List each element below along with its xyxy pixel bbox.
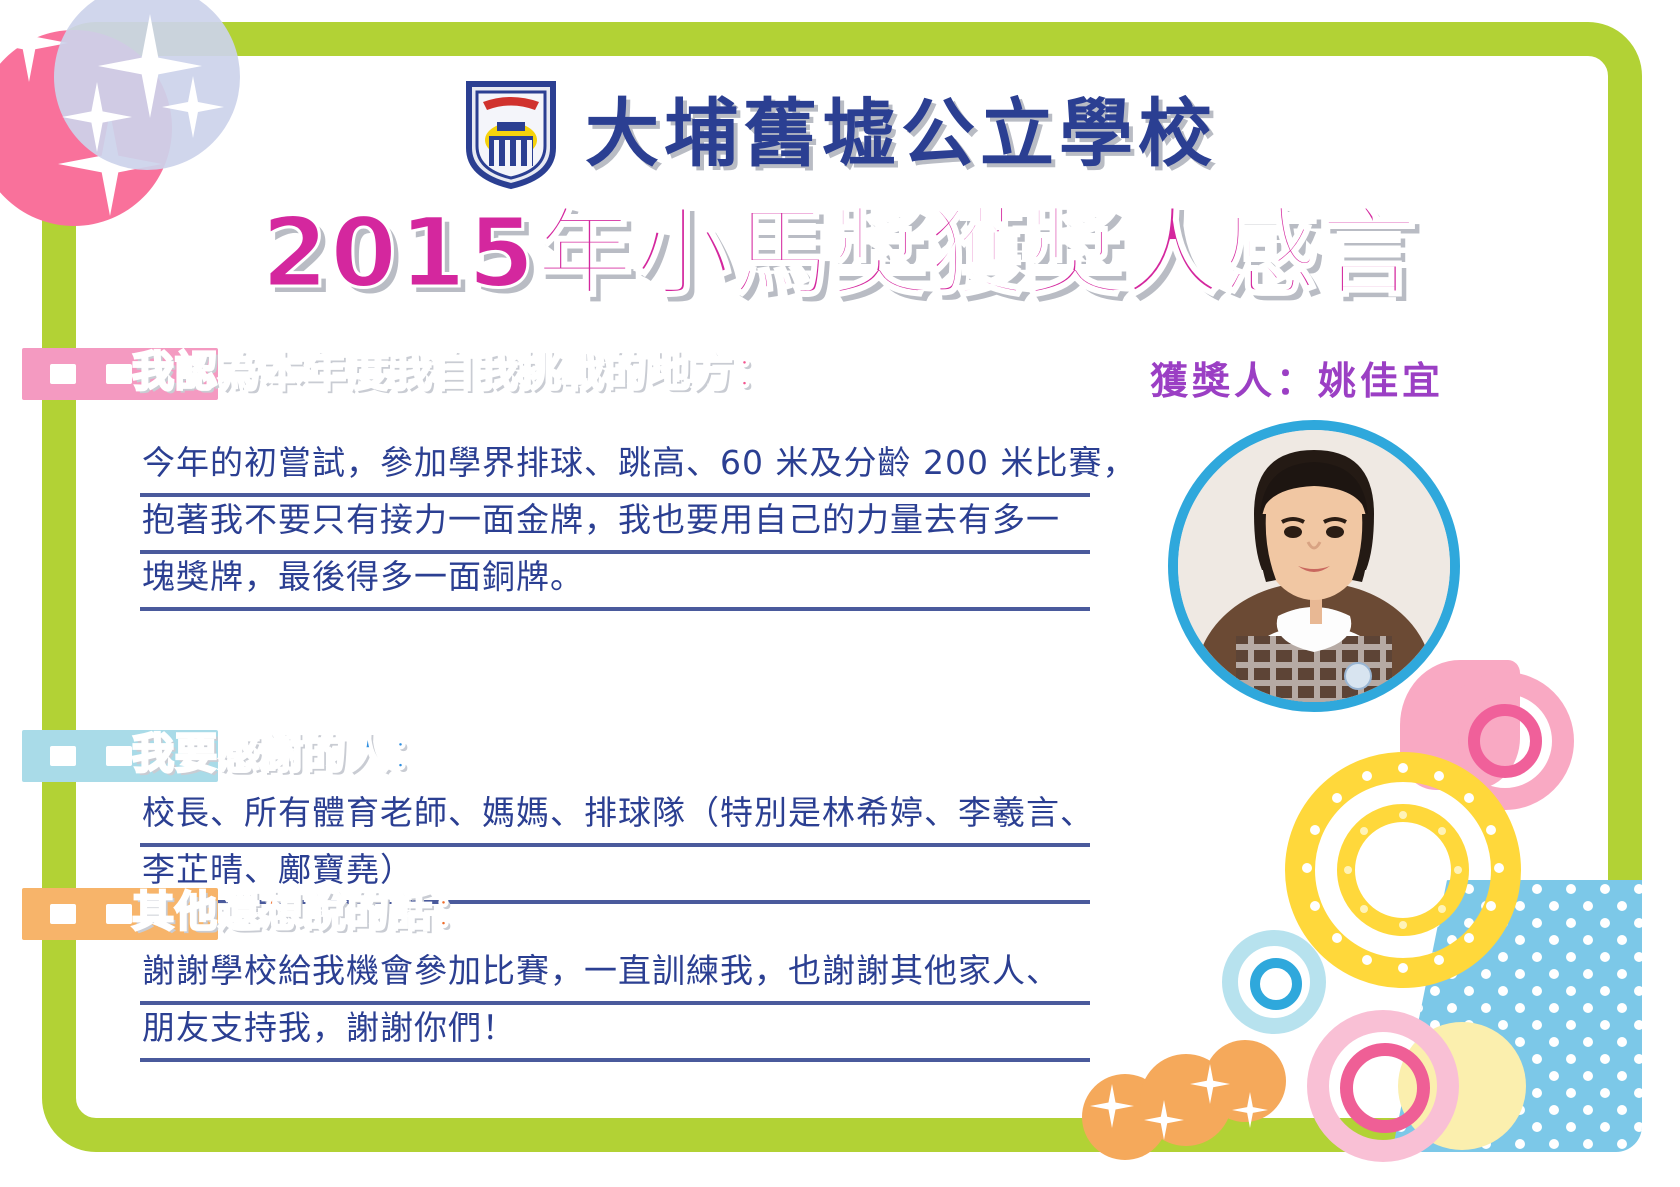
deco-cyan-ring-inner <box>1250 958 1302 1010</box>
recipient-photo <box>1168 420 1460 712</box>
writing-line: 朋友支持我，謝謝你們！ <box>140 1005 1090 1062</box>
filmstrip-hole <box>106 904 132 924</box>
section-title-text: 其他還想說的話： <box>132 887 476 936</box>
answer-block-challenge: 今年的初嘗試，參加學界排球、跳高、60 米及分齡 200 米比賽， 抱著我不要只… <box>140 440 1090 611</box>
writing-line: 塊獎牌，最後得多一面銅牌。 <box>140 554 1090 611</box>
section-header-thanks: 我要感謝的人： <box>22 730 522 782</box>
answer-text: 今年的初嘗試，參加學界排球、跳高、60 米及分齡 200 米比賽， <box>142 438 1136 488</box>
recipient-label: 獲獎人：姚佳宜 <box>1150 350 1444 405</box>
section-title-other: 其他還想說的話： <box>132 883 476 941</box>
filmstrip-hole <box>106 364 132 384</box>
section-title-text: 我要感謝的人： <box>132 729 433 778</box>
school-name: 大埔舊墟公立學校 <box>585 97 1217 171</box>
answer-text: 抱著我不要只有接力一面金牌，我也要用自己的力量去有多一 <box>142 495 1060 545</box>
section-title-text: 我認為本年度我自我挑戰的地方： <box>132 347 777 396</box>
answer-text: 校長、所有體育老師、媽媽、排球隊（特別是林希婷、李羲言、 <box>142 788 1094 838</box>
answer-block-other: 謝謝學校給我機會參加比賽，一直訓練我，也謝謝其他家人、 朋友支持我，謝謝你們！ <box>140 948 1090 1062</box>
school-header: 大埔舊墟公立學校 <box>0 78 1680 190</box>
writing-line: 校長、所有體育老師、媽媽、排球隊（特別是林希婷、李羲言、 <box>140 790 1090 847</box>
school-crest-icon <box>463 78 559 190</box>
writing-line: 謝謝學校給我機會參加比賽，一直訓練我，也謝謝其他家人、 <box>140 948 1090 1005</box>
writing-line: 今年的初嘗試，參加學界排球、跳高、60 米及分齡 200 米比賽， <box>140 440 1090 497</box>
answer-text: 朋友支持我，謝謝你們！ <box>142 1003 516 1053</box>
section-title-thanks: 我要感謝的人： <box>132 725 433 783</box>
writing-line: 抱著我不要只有接力一面金牌，我也要用自己的力量去有多一 <box>140 497 1090 554</box>
deco-yellow-inner-ring <box>1337 804 1469 936</box>
page-title: 2015年小馬獎獲獎人感言 <box>0 205 1680 301</box>
filmstrip-hole <box>50 904 76 924</box>
section-header-challenge: 我認為本年度我自我挑戰的地方： <box>22 348 782 400</box>
writing-rule <box>140 1058 1090 1062</box>
filmstrip-hole <box>50 364 76 384</box>
filmstrip-hole <box>106 746 132 766</box>
answer-text: 謝謝學校給我機會參加比賽，一直訓練我，也謝謝其他家人、 <box>142 946 1060 996</box>
section-header-other: 其他還想說的話： <box>22 888 542 940</box>
filmstrip-hole <box>50 746 76 766</box>
section-title-challenge: 我認為本年度我自我挑戰的地方： <box>132 343 777 401</box>
writing-rule <box>140 607 1090 611</box>
answer-text: 塊獎牌，最後得多一面銅牌。 <box>142 552 584 602</box>
award-testimonial-poster: 大埔舊墟公立學校 2015年小馬獎獲獎人感言 我認為本年度我自我挑戰的地方： 今… <box>0 0 1680 1187</box>
deco-pink-ring-mid <box>1340 1043 1430 1133</box>
